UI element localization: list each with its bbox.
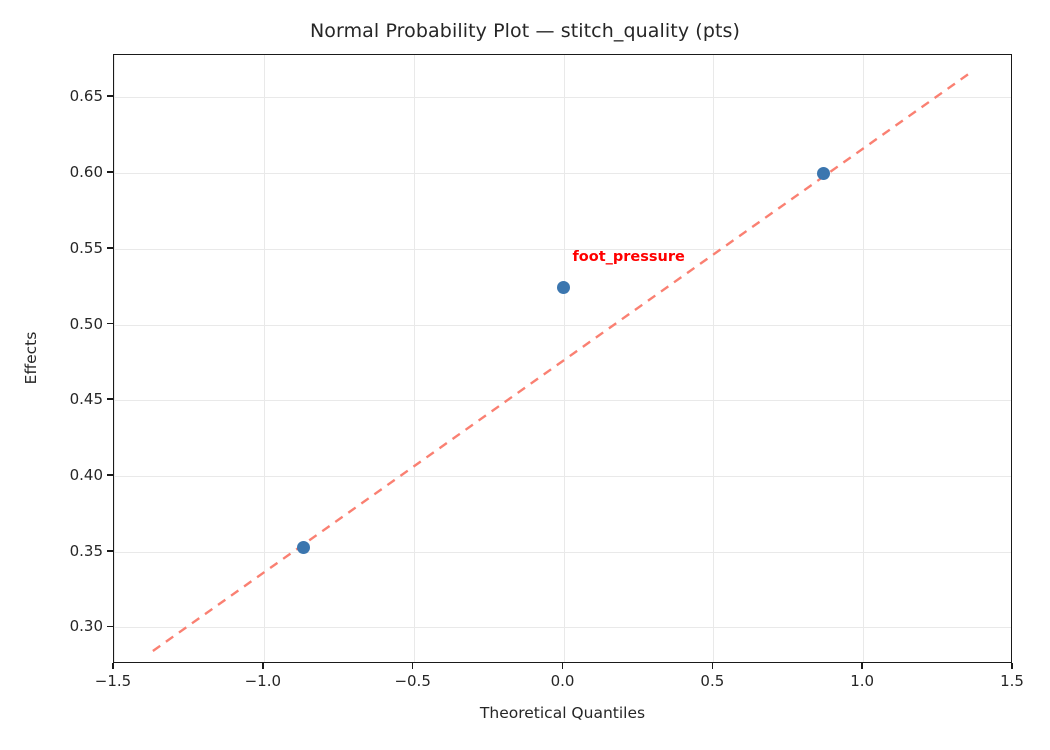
x-tick-label-4: 0.5 (700, 672, 724, 690)
x-tick-mark-4 (712, 663, 714, 669)
x-tick-label-2: −0.5 (394, 672, 430, 690)
y-tick-label-1: 0.35 (57, 542, 103, 560)
y-tick-label-3: 0.45 (57, 390, 103, 408)
x-tick-mark-0 (112, 663, 114, 669)
y-tick-label-0: 0.30 (57, 617, 103, 635)
x-tick-mark-1 (262, 663, 264, 669)
y-tick-label-4: 0.50 (57, 315, 103, 333)
y-axis-label-text: Effects (22, 332, 40, 385)
reference-line (114, 55, 1011, 662)
x-tick-mark-6 (1011, 663, 1013, 669)
y-tick-mark-4 (107, 323, 113, 325)
chart-title: Normal Probability Plot — stitch_quality… (0, 20, 1050, 42)
x-tick-mark-5 (861, 663, 863, 669)
x-tick-mark-2 (412, 663, 414, 669)
x-axis-label: Theoretical Quantiles (113, 704, 1012, 722)
y-tick-mark-3 (107, 398, 113, 400)
x-tick-label-1: −1.0 (245, 672, 281, 690)
x-tick-label-6: 1.5 (1000, 672, 1024, 690)
figure-canvas: Normal Probability Plot — stitch_quality… (0, 0, 1050, 750)
y-tick-mark-1 (107, 550, 113, 552)
y-tick-label-6: 0.60 (57, 163, 103, 181)
x-tick-label-0: −1.5 (95, 672, 131, 690)
point-annotation-0: foot_pressure (572, 249, 684, 265)
x-tick-mark-3 (562, 663, 564, 669)
y-tick-label-2: 0.40 (57, 466, 103, 484)
x-tick-label-5: 1.0 (850, 672, 874, 690)
y-tick-label-7: 0.65 (57, 87, 103, 105)
data-point-0[interactable] (297, 541, 310, 554)
y-tick-label-5: 0.55 (57, 239, 103, 257)
plot-area: foot_pressure (113, 54, 1012, 663)
y-tick-mark-7 (107, 95, 113, 97)
y-tick-mark-5 (107, 247, 113, 249)
y-tick-mark-6 (107, 171, 113, 173)
x-tick-label-3: 0.0 (551, 672, 575, 690)
data-point-1[interactable] (557, 281, 570, 294)
y-tick-mark-2 (107, 474, 113, 476)
y-tick-mark-0 (107, 626, 113, 628)
